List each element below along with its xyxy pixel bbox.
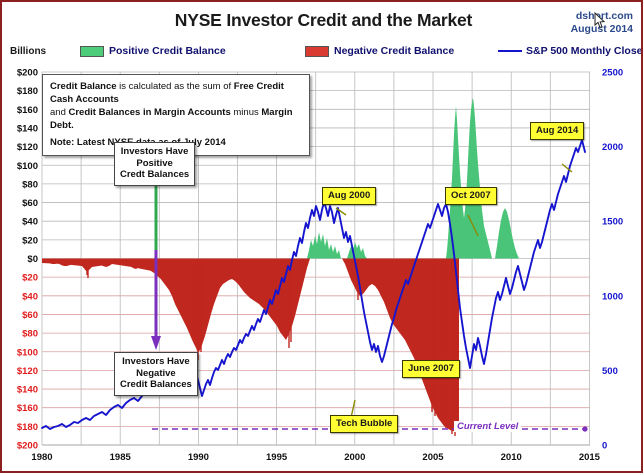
svg-text:0: 0 (602, 441, 607, 452)
annotation-line-3: Credt Balances (120, 169, 189, 181)
legend-swatch-red-icon (305, 46, 329, 57)
svg-text:2500: 2500 (602, 68, 623, 79)
info-text: is calculated as the sum of (117, 81, 234, 92)
svg-text:2000: 2000 (344, 452, 365, 463)
callout-aug-2000: Aug 2000 (322, 187, 376, 205)
legend-label: Positive Credit Balance (109, 45, 226, 57)
svg-text:$120: $120 (17, 366, 38, 377)
svg-text:$60: $60 (22, 198, 38, 209)
x-axis-labels: 1980 1985 1990 1995 2000 2005 2010 2015 (31, 452, 600, 463)
svg-text:$20: $20 (22, 235, 38, 246)
svg-text:1000: 1000 (602, 291, 623, 302)
svg-text:$200: $200 (17, 441, 38, 452)
annotation-negative-credit-balances: Investors Have Negative Credit Balances (114, 352, 198, 396)
svg-text:$40: $40 (22, 217, 38, 228)
svg-text:$180: $180 (17, 86, 38, 97)
svg-text:2015: 2015 (579, 452, 601, 463)
svg-text:2010: 2010 (501, 452, 522, 463)
svg-text:$160: $160 (17, 403, 38, 414)
svg-text:1990: 1990 (188, 452, 209, 463)
plot-area: $200 $180 $160 $140 $120 $100 $80 $60 $4… (2, 60, 643, 473)
legend-label: S&P 500 Monthly Closes (526, 45, 643, 57)
svg-text:$140: $140 (17, 124, 38, 135)
annotation-line-1: Investors Have (120, 356, 192, 368)
legend-item-negative-credit-balance: Negative Credit Balance (305, 43, 454, 59)
svg-text:$120: $120 (17, 142, 38, 153)
svg-text:$0: $0 (27, 254, 38, 265)
svg-text:$20: $20 (22, 273, 38, 284)
svg-text:$80: $80 (22, 329, 38, 340)
annotation-line-3: Credit Balances (120, 379, 192, 391)
brand-block: dshort.com August 2014 (523, 10, 633, 36)
legend-label: Negative Credit Balance (334, 45, 454, 57)
svg-text:2005: 2005 (422, 452, 444, 463)
svg-text:$60: $60 (22, 310, 38, 321)
chart-legend: Positive Credit Balance Negative Credit … (80, 43, 625, 59)
brand-date: August 2014 (523, 23, 633, 36)
y-axis-left-labels: $200 $180 $160 $140 $120 $100 $80 $60 $4… (17, 68, 38, 452)
info-term-credit-balance: Credit Balance (50, 81, 117, 92)
legend-item-sp500: S&P 500 Monthly Closes (498, 43, 643, 59)
svg-text:$100: $100 (17, 161, 38, 172)
svg-text:$200: $200 (17, 68, 38, 79)
svg-text:1995: 1995 (266, 452, 288, 463)
legend-swatch-green-icon (80, 46, 104, 57)
legend-item-positive-credit-balance: Positive Credit Balance (80, 43, 226, 59)
svg-text:$100: $100 (17, 347, 38, 358)
annotation-positive-credit-balances: Investors Have Positive Credt Balances (114, 142, 195, 186)
svg-text:$180: $180 (17, 422, 38, 433)
callout-aug-2014: Aug 2014 (530, 122, 584, 140)
svg-text:$80: $80 (22, 179, 38, 190)
annotation-line-2: Positive (120, 158, 189, 170)
mouse-cursor-icon (594, 12, 608, 30)
chart-frame: NYSE Investor Credit and the Market dsho… (0, 0, 643, 473)
svg-text:1980: 1980 (31, 452, 52, 463)
svg-text:1985: 1985 (110, 452, 132, 463)
info-text: and (50, 107, 69, 118)
svg-text:500: 500 (602, 366, 618, 377)
annotation-line-2: Negative (120, 368, 192, 380)
y-axis-units-label: Billions (10, 46, 46, 57)
annotation-line-1: Investors Have (120, 146, 189, 158)
info-text: minus (231, 107, 262, 118)
svg-text:$40: $40 (22, 291, 38, 302)
y-axis-right-labels: 2500 2000 1500 1000 500 0 (602, 68, 623, 452)
svg-text:$160: $160 (17, 105, 38, 116)
info-term-margin-balances: Credit Balances in Margin Accounts (69, 107, 231, 118)
callout-june-2007: June 2007 (402, 360, 460, 378)
brand-name: dshort.com (523, 10, 633, 23)
callout-oct-2007: Oct 2007 (445, 187, 497, 205)
legend-line-blue-icon (498, 50, 522, 52)
svg-text:2000: 2000 (602, 142, 623, 153)
svg-text:$140: $140 (17, 385, 38, 396)
info-line-1: Credit Balance is calculated as the sum … (50, 80, 302, 106)
current-level-label: Current Level (454, 421, 521, 432)
info-line-2: and Credit Balances in Margin Accounts m… (50, 106, 302, 132)
svg-text:1500: 1500 (602, 217, 623, 228)
callout-tech-bubble: Tech Bubble (330, 415, 398, 433)
